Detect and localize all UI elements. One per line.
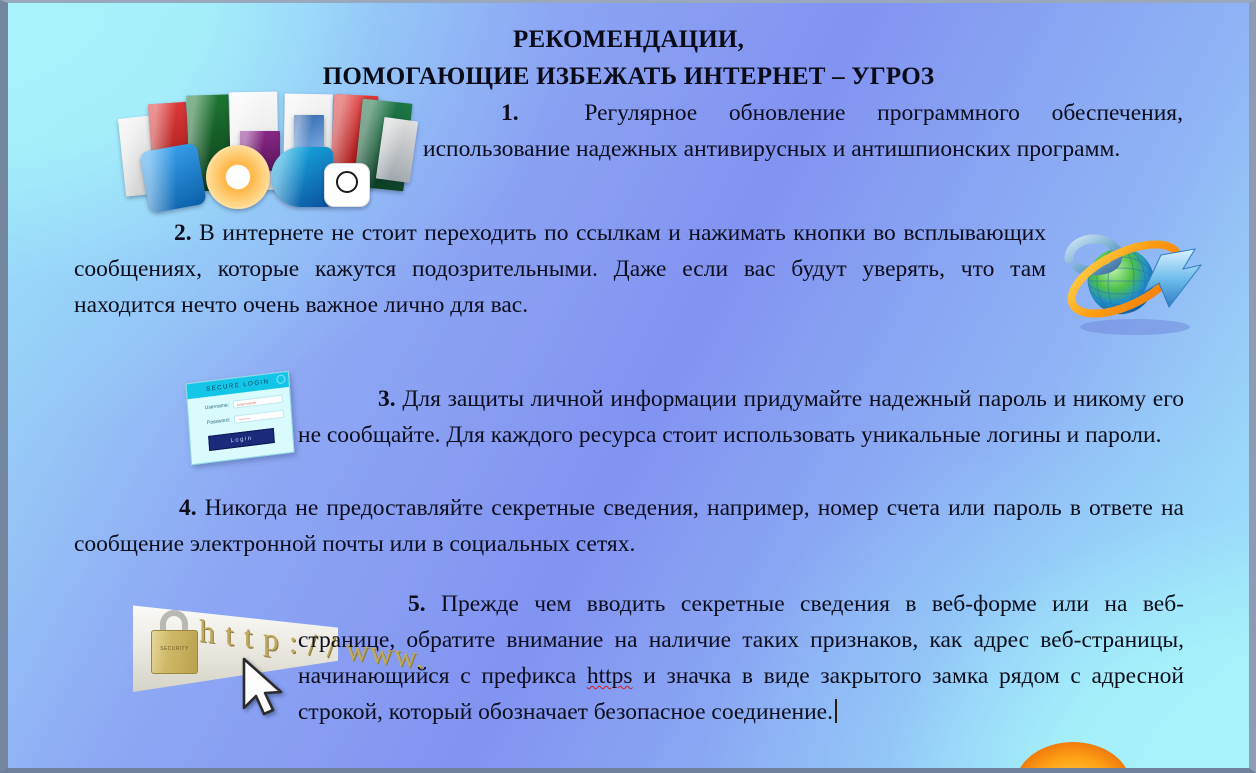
paragraph-2-number: 2.: [174, 220, 192, 246]
padlock-body-icon: [151, 630, 198, 674]
orange-decoration-sliver: [1015, 742, 1131, 773]
recommendation-paragraph-5: 5. Прежде чем вводить секретные сведения…: [298, 586, 1184, 730]
paragraph-1-text: Регулярное обновление программного обесп…: [423, 100, 1183, 162]
presentation-slide: РЕКОМЕНДАЦИИ, ПОМОГАЮЩИЕ ИЗБЕЖАТЬ ИНТЕРН…: [0, 0, 1256, 773]
login-dialog-title: SECURE LOGIN: [206, 378, 270, 393]
paragraph-4-text: Никогда не предоставляйте секретные свед…: [74, 495, 1184, 557]
recommendation-paragraph-3: 3. Для защиты личной информации придумай…: [298, 381, 1184, 453]
internet-explorer-globe-image: [1043, 221, 1228, 339]
misspelled-word-https: https: [587, 663, 633, 689]
paragraph-3-text: Для защиты личной информации придумайте …: [298, 386, 1184, 448]
text-cursor-caret: [835, 699, 837, 723]
recommendation-paragraph-2: 2. В интернете не стоит переходить по сс…: [74, 215, 1046, 323]
password-label: Password:: [196, 417, 230, 427]
secure-login-dialog-image: SECURE LOGIN Username: username Password…: [185, 371, 294, 465]
paragraph-1-number: 1.: [501, 100, 519, 126]
paragraph-4-number: 4.: [179, 495, 197, 521]
login-button: Login: [208, 428, 275, 451]
mouse-cursor-icon: [239, 656, 287, 718]
recommendation-paragraph-4: 4. Никогда не предоставляйте секретные с…: [74, 490, 1184, 562]
username-label: Username:: [195, 402, 229, 412]
password-input: ••••••••: [234, 410, 284, 424]
slide-title-line-1: РЕКОМЕНДАЦИИ,: [8, 23, 1249, 56]
username-input: username: [233, 395, 283, 409]
paragraph-5-number: 5.: [408, 591, 426, 617]
password-row: Password: ••••••••: [196, 410, 284, 429]
padlock-label: SECURITY: [154, 646, 195, 652]
recommendation-paragraph-1: 1. Регулярное обновление программного об…: [423, 95, 1183, 167]
paragraph-3-number: 3.: [378, 386, 396, 412]
paragraph-2-text: В интернете не стоит переходить по ссылк…: [74, 220, 1046, 318]
globe-icon: [1043, 221, 1228, 339]
slide-content: РЕКОМЕНДАЦИИ, ПОМОГАЮЩИЕ ИЗБЕЖАТЬ ИНТЕРН…: [8, 3, 1249, 768]
antivirus-software-boxes-image: [108, 89, 418, 213]
close-icon: [276, 374, 286, 384]
